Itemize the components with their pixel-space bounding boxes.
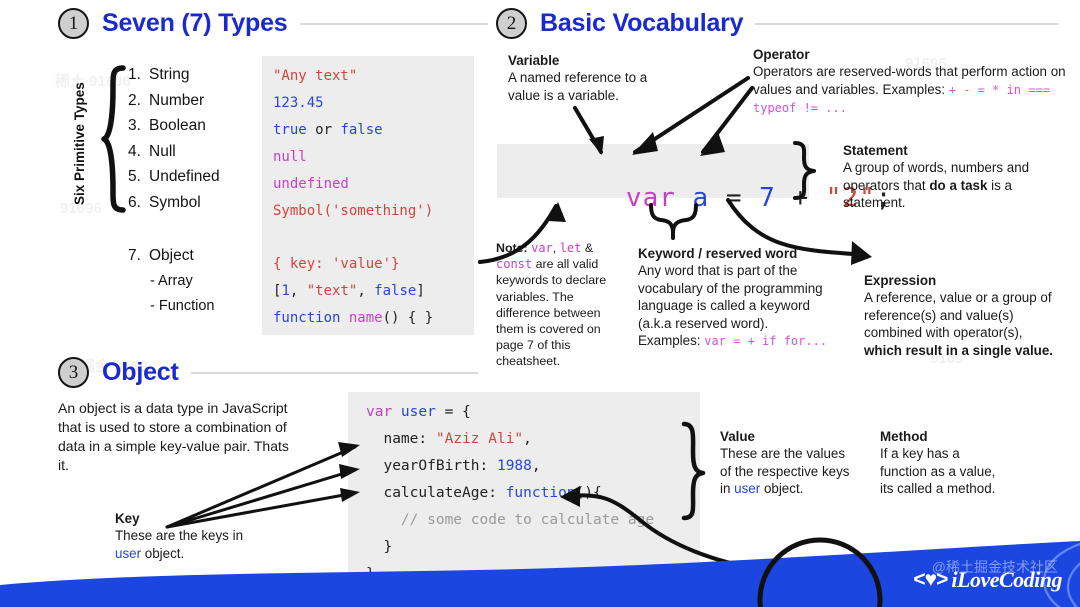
statement-heading: Statement xyxy=(843,142,1043,159)
code-line: [1, "text", false] xyxy=(273,283,425,299)
variable-heading: Variable xyxy=(508,52,673,69)
code-token-bracket-close: ] xyxy=(416,283,424,299)
method-heading: Method xyxy=(880,428,1010,445)
code-line: Symbol('something') xyxy=(273,203,433,219)
code-token-var: var xyxy=(626,183,676,213)
object-intro: An object is a data type in JavaScript t… xyxy=(58,400,289,473)
code-line: calculateAge: function(){ xyxy=(366,485,602,501)
keyword-body: Any word that is part of the vocabulary … xyxy=(638,263,823,330)
code-token-value-year: 1988 xyxy=(497,458,532,474)
code-token-array-number: 1 xyxy=(281,283,289,299)
object-type-group: 7.Object - Array - Function xyxy=(128,243,214,319)
operator-heading: Operator xyxy=(753,46,1073,63)
code-line: undefined xyxy=(273,176,349,192)
variable-body: A named reference to a value is a variab… xyxy=(508,70,647,102)
note-text-block: Note: var, let & const are all valid key… xyxy=(496,240,621,370)
code-token-key-name: name xyxy=(366,431,418,447)
code-token-function-tail: () { } xyxy=(383,310,434,326)
section-2-rule xyxy=(755,23,1058,25)
object-intro-text: An object is a data type in JavaScript t… xyxy=(58,399,298,475)
code-line: 123.45 xyxy=(273,95,324,111)
code-token-null: null xyxy=(273,149,307,165)
code-line: function name() { } xyxy=(273,310,433,326)
list-item: - Function xyxy=(128,294,214,319)
expression-heading: Expression xyxy=(864,272,1054,289)
section-1-rule xyxy=(300,23,488,25)
list-item: - Array xyxy=(128,269,214,294)
code-token-comma: , xyxy=(532,458,541,474)
code-token-string: "Any text" xyxy=(273,68,357,84)
code-line: var user = { xyxy=(366,404,471,420)
code-token-key-yearofbirth: yearOfBirth xyxy=(366,458,480,474)
key-heading: Key xyxy=(115,510,245,527)
note-keyword-var: var xyxy=(531,241,553,255)
code-line: null xyxy=(273,149,307,165)
code-token-seven: 7 xyxy=(759,183,776,213)
heart-brackets-icon: <♥> xyxy=(913,568,947,592)
value-text-block: Value These are the values of the respec… xyxy=(720,428,850,498)
list-item: 3.Boolean xyxy=(128,113,220,139)
type-label: Object xyxy=(149,247,194,264)
code-line: var a = 7 + "2"; xyxy=(526,153,892,243)
statement-text-block: Statement A group of words, numbers and … xyxy=(843,142,1043,212)
types-code-panel: "Any text" 123.45 true or false null und… xyxy=(262,56,474,335)
cheatsheet-page: 稀土 91696 91696 掘金 9169 91696 9169 91696 … xyxy=(0,0,1080,607)
expression-body-bold: which result in a single value. xyxy=(864,343,1053,358)
keyword-examples-label: Examples: xyxy=(638,333,704,348)
type-label: Undefined xyxy=(149,168,220,185)
code-token-assign: = xyxy=(709,183,759,213)
code-token-var: var xyxy=(366,404,401,420)
code-token-key-calculateage: calculateAge xyxy=(366,485,488,501)
section-2-title: Basic Vocabulary xyxy=(540,9,743,38)
code-line: true or false xyxy=(273,122,383,138)
code-token-true: true xyxy=(273,122,307,138)
statement-code-panel: var a = 7 + "2"; xyxy=(497,144,809,198)
list-item: 5.Undefined xyxy=(128,164,220,190)
section-3-header: 3 Object xyxy=(58,357,478,388)
footer: @稀土掘金技术社区 <♥> iLoveCoding xyxy=(0,541,1080,607)
code-token-object: { key: 'value'} xyxy=(273,256,399,272)
keyword-text-block: Keyword / reserved word Any word that is… xyxy=(638,245,828,350)
code-token-plus: + xyxy=(776,183,826,213)
type-label: Symbol xyxy=(149,194,201,211)
variable-text-block: Variable A named reference to a value is… xyxy=(508,52,673,104)
code-token-function-tail: (){ xyxy=(576,485,602,501)
code-token-value-name: "Aziz Ali" xyxy=(436,431,523,447)
code-token-or: or xyxy=(307,122,341,138)
section-3-rule xyxy=(191,372,478,374)
code-token-comma: , xyxy=(290,283,307,299)
section-2-number: 2 xyxy=(496,8,527,39)
type-label: String xyxy=(149,66,190,83)
code-token-identifier: a xyxy=(693,183,710,213)
code-token-symbol: Symbol('something') xyxy=(273,203,433,219)
type-index: 5. xyxy=(128,164,149,190)
code-line: // some code to calculate age xyxy=(366,512,654,528)
statement-body-bold: do a task xyxy=(929,178,987,193)
code-token-function-name: name xyxy=(349,310,383,326)
value-body-2: object. xyxy=(760,481,803,496)
types-list: 1.String 2.Number 3.Boolean 4.Null 5.Und… xyxy=(128,62,220,215)
list-item: 6.Symbol xyxy=(128,190,220,216)
code-token-colon: : xyxy=(488,485,505,501)
note-keyword-let: let xyxy=(560,241,582,255)
method-body: If a key has a function as a value, its … xyxy=(880,446,995,496)
code-token-colon: : xyxy=(418,431,435,447)
code-token-user: user xyxy=(401,404,436,420)
type-label: Number xyxy=(149,92,204,109)
type-index: 7. xyxy=(128,243,149,269)
code-token-colon: : xyxy=(480,458,497,474)
code-token-number: 123.45 xyxy=(273,95,324,111)
code-token-space xyxy=(676,183,693,213)
code-token-comment: // some code to calculate age xyxy=(366,512,654,528)
code-token-comma: , xyxy=(357,283,374,299)
six-primitive-types-label: Six Primitive Types xyxy=(72,82,87,205)
operator-text-block: Operator Operators are reserved-words th… xyxy=(753,46,1073,118)
type-index: 4. xyxy=(128,139,149,165)
code-token-function-keyword: function xyxy=(506,485,576,501)
operator-examples-label: Examples: xyxy=(883,82,949,97)
type-index: 6. xyxy=(128,190,149,216)
note-sep-1: , xyxy=(553,241,560,255)
code-token-array-string: "text" xyxy=(307,283,358,299)
expression-body-1: A reference, value or a group of referen… xyxy=(864,290,1052,340)
list-item: 7.Object xyxy=(128,243,214,269)
note-keyword-const: const xyxy=(496,257,532,271)
list-item: 1.String xyxy=(128,62,220,88)
section-1-header: 1 Seven (7) Types xyxy=(58,8,488,39)
keyword-heading: Keyword / reserved word xyxy=(638,245,828,262)
section-2-header: 2 Basic Vocabulary xyxy=(496,8,1058,39)
type-label: Null xyxy=(149,143,176,160)
expression-text-block: Expression A reference, value or a group… xyxy=(864,272,1054,359)
code-token-function-keyword: function xyxy=(273,310,349,326)
code-token-assign-brace: = { xyxy=(436,404,471,420)
watermark: 稀土 91696 xyxy=(55,70,131,91)
method-text-block: Method If a key has a function as a valu… xyxy=(880,428,1010,498)
code-token-array-bool: false xyxy=(374,283,416,299)
code-token-comma: , xyxy=(523,431,532,447)
code-token-undefined: undefined xyxy=(273,176,349,192)
value-heading: Value xyxy=(720,428,850,445)
type-label: Boolean xyxy=(149,117,206,134)
note-sep-2: & xyxy=(581,241,593,255)
section-3-title: Object xyxy=(102,358,179,387)
type-index: 3. xyxy=(128,113,149,139)
list-item: 4.Null xyxy=(128,139,220,165)
section-1-number: 1 xyxy=(58,8,89,39)
type-index: 1. xyxy=(128,62,149,88)
logo-text: iLoveCoding xyxy=(951,567,1062,593)
code-line: yearOfBirth: 1988, xyxy=(366,458,541,474)
section-1-title: Seven (7) Types xyxy=(102,9,288,38)
value-highlight-user: user xyxy=(734,481,760,496)
code-token-false: false xyxy=(340,122,382,138)
code-line: "Any text" xyxy=(273,68,357,84)
type-index: 2. xyxy=(128,88,149,114)
note-label: Note: xyxy=(496,241,531,255)
keyword-examples: var = + if for... xyxy=(704,334,827,348)
ilovecoding-logo[interactable]: <♥> iLoveCoding xyxy=(913,567,1062,593)
note-body: are all valid keywords to declare variab… xyxy=(496,257,606,368)
list-item: 2.Number xyxy=(128,88,220,114)
code-line: { key: 'value'} xyxy=(273,256,399,272)
section-3-number: 3 xyxy=(58,357,89,388)
code-line: name: "Aziz Ali", xyxy=(366,431,532,447)
